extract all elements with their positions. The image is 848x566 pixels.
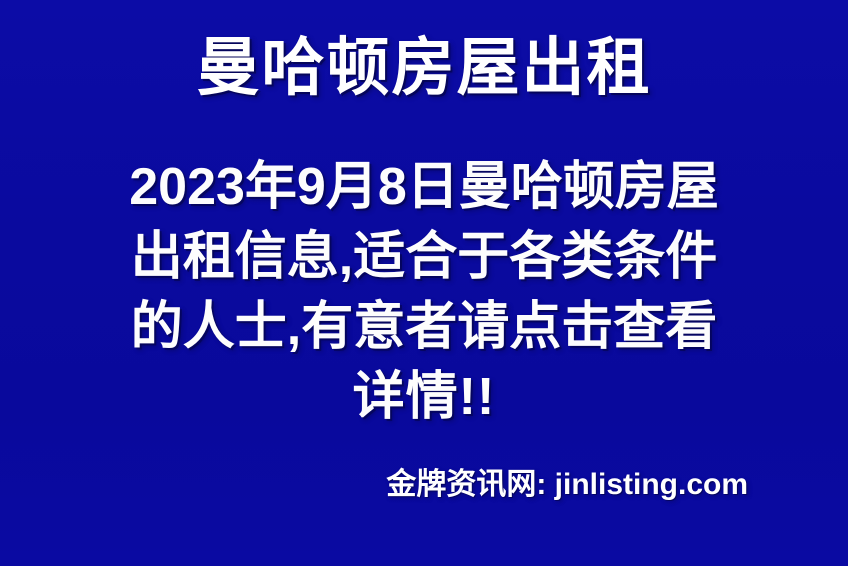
body-line-4: 详情!! <box>0 362 848 432</box>
page-title: 曼哈顿房屋出租 <box>0 28 848 108</box>
body-line-1: 2023年9月8日曼哈顿房屋 <box>0 152 848 222</box>
source-credit: 金牌资讯网: jinlisting.com <box>0 468 848 502</box>
body-line-3: 的人士,有意者请点击查看 <box>0 292 848 362</box>
rental-announcement-poster: 曼哈顿房屋出租 2023年9月8日曼哈顿房屋 出租信息,适合于各类条件 的人士,… <box>0 0 848 566</box>
source-credit-text: 金牌资讯网: jinlisting.com <box>386 468 748 501</box>
body-line-2: 出租信息,适合于各类条件 <box>0 222 848 292</box>
announcement-body: 2023年9月8日曼哈顿房屋 出租信息,适合于各类条件 的人士,有意者请点击查看… <box>0 152 848 432</box>
